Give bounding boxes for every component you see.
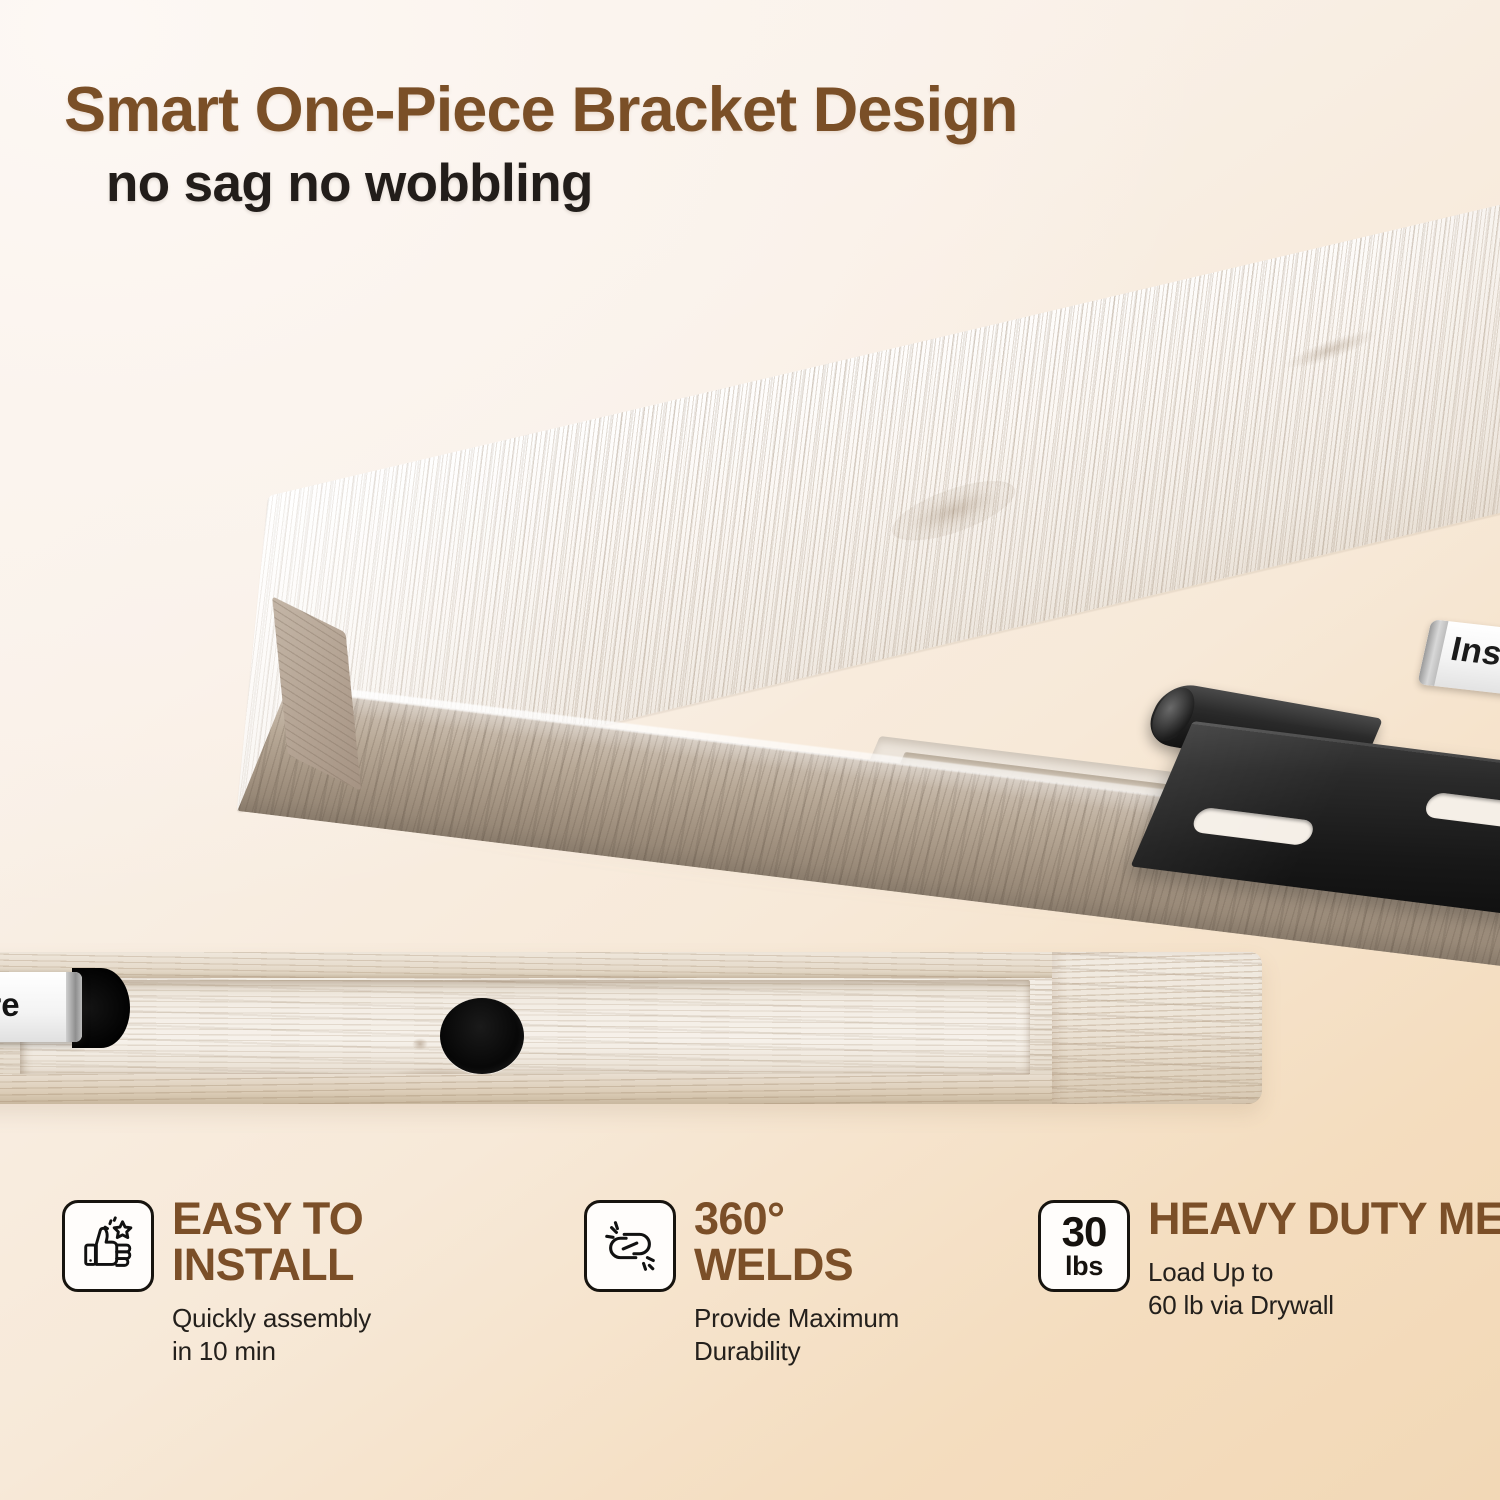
wood-knot bbox=[891, 469, 1016, 553]
wood-knot-secondary bbox=[412, 1038, 428, 1050]
weight-badge-icon: 30 lbs bbox=[1038, 1200, 1130, 1292]
label-tab-text: are bbox=[0, 986, 20, 1024]
feature-text: HEAVY DUTY METAL Load Up to 60 lb via Dr… bbox=[1148, 1196, 1500, 1322]
page-title: Smart One-Piece Bracket Design bbox=[64, 78, 1364, 144]
label-tab-bottom: are bbox=[0, 972, 82, 1042]
wood-knot-secondary bbox=[1284, 323, 1378, 376]
mounting-hole bbox=[440, 998, 524, 1074]
feature-360-welds: 360° WELDS Provide Maximum Durability bbox=[584, 1196, 1004, 1368]
feature-caption: Quickly assembly in 10 min bbox=[172, 1302, 371, 1368]
feature-text: EASY TO INSTALL Quickly assembly in 10 m… bbox=[172, 1196, 371, 1368]
feature-title: HEAVY DUTY METAL bbox=[1148, 1196, 1500, 1242]
thumbs-up-star-icon bbox=[62, 1200, 154, 1292]
shelf-underside-board bbox=[0, 952, 1262, 1104]
chain-link-weld-icon bbox=[584, 1200, 676, 1292]
routed-channel bbox=[20, 980, 1030, 1078]
feature-caption: Load Up to 60 lb via Drywall bbox=[1148, 1256, 1500, 1322]
feature-title: 360° WELDS bbox=[694, 1196, 899, 1288]
feature-heavy-duty-metal: 30 lbs HEAVY DUTY METAL Load Up to 60 lb… bbox=[1038, 1196, 1468, 1322]
weight-badge-number: 30 bbox=[1062, 1212, 1107, 1252]
weight-badge-unit: lbs bbox=[1065, 1252, 1103, 1280]
product-photo-top: Ins bbox=[0, 196, 1500, 836]
bracket-screw-slot bbox=[1422, 792, 1500, 832]
label-tab-spine bbox=[66, 972, 82, 1042]
product-photo-bottom: are bbox=[0, 930, 1500, 1150]
bracket-screw-slot bbox=[1189, 807, 1317, 847]
product-infographic: Smart One-Piece Bracket Design no sag no… bbox=[0, 0, 1500, 1500]
feature-title: EASY TO INSTALL bbox=[172, 1196, 371, 1288]
feature-text: 360° WELDS Provide Maximum Durability bbox=[694, 1196, 899, 1368]
board-end-grain bbox=[1052, 952, 1262, 1104]
label-tab-spine bbox=[1417, 619, 1448, 686]
headline-block: Smart One-Piece Bracket Design no sag no… bbox=[64, 78, 1364, 211]
feature-caption: Provide Maximum Durability bbox=[694, 1302, 899, 1368]
feature-easy-to-install: EASY TO INSTALL Quickly assembly in 10 m… bbox=[62, 1196, 532, 1368]
feature-row: EASY TO INSTALL Quickly assembly in 10 m… bbox=[0, 1196, 1500, 1426]
label-tab-top: Ins bbox=[1417, 619, 1500, 699]
label-tab-text: Ins bbox=[1447, 630, 1500, 674]
